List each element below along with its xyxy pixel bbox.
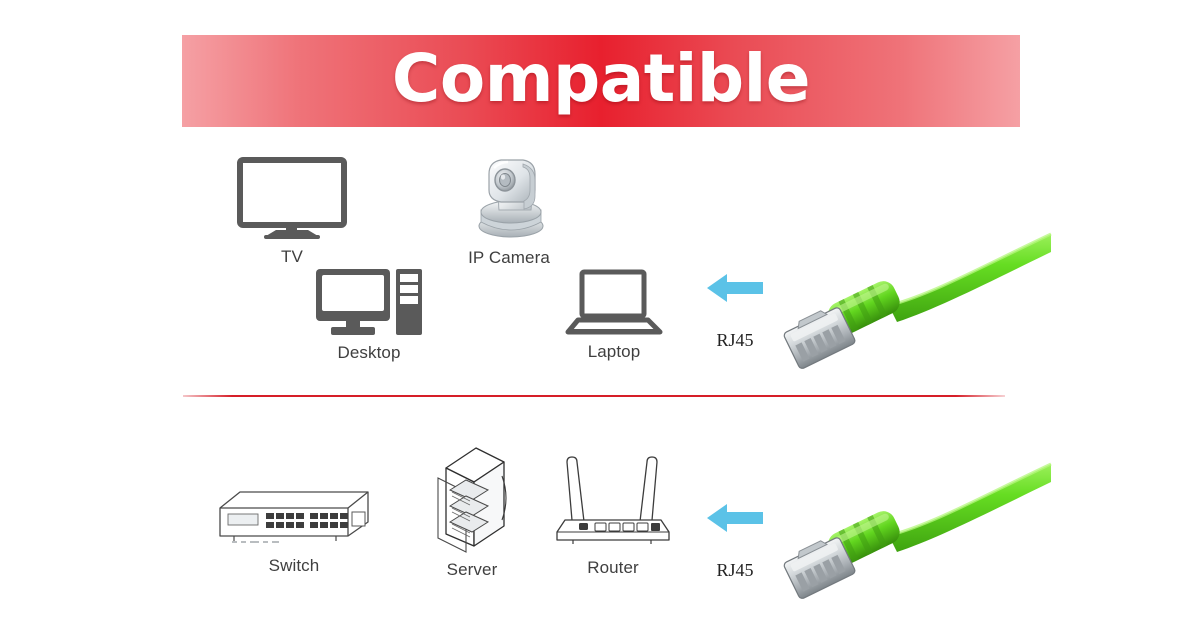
desktop-icon: [316, 269, 422, 337]
compatibility-diagram: Compatible TV: [0, 0, 1200, 630]
device-desktop: Desktop: [316, 269, 422, 363]
ethernet-cable-icon: [793, 462, 1053, 582]
device-switch: Switch: [210, 478, 378, 576]
device-ip-camera: IP Camera: [463, 152, 555, 268]
device-label: Switch: [269, 556, 320, 576]
tv-icon: [236, 157, 348, 241]
rj45-patch-cable-top: [793, 232, 1053, 352]
device-router: Router: [551, 448, 675, 578]
arrow-left-icon: [707, 272, 763, 304]
rj45-arrow-group-top: RJ45: [707, 272, 763, 351]
server-rack-icon: [432, 442, 512, 554]
device-label: Router: [587, 558, 639, 578]
device-label: Desktop: [337, 343, 400, 363]
banner-title: Compatible: [182, 35, 1020, 127]
compatible-banner: Compatible: [182, 35, 1020, 127]
device-label: IP Camera: [468, 248, 550, 268]
rj45-patch-cable-bottom: [793, 462, 1053, 582]
ip-camera-icon: [463, 152, 555, 242]
device-laptop: Laptop: [566, 270, 662, 362]
rj45-arrow-group-bottom: RJ45: [707, 502, 763, 581]
device-label: Laptop: [588, 342, 641, 362]
router-icon: [551, 448, 675, 552]
laptop-icon: [566, 270, 662, 336]
ethernet-cable-icon: [793, 232, 1053, 352]
device-label: Server: [447, 560, 498, 580]
device-label: TV: [281, 247, 303, 267]
rj45-label: RJ45: [716, 560, 753, 581]
rj45-label: RJ45: [716, 330, 753, 351]
arrow-left-icon: [707, 502, 763, 534]
device-tv: TV: [236, 157, 348, 267]
device-server: Server: [432, 442, 512, 580]
section-divider: [183, 395, 1005, 397]
network-switch-icon: [210, 478, 378, 550]
